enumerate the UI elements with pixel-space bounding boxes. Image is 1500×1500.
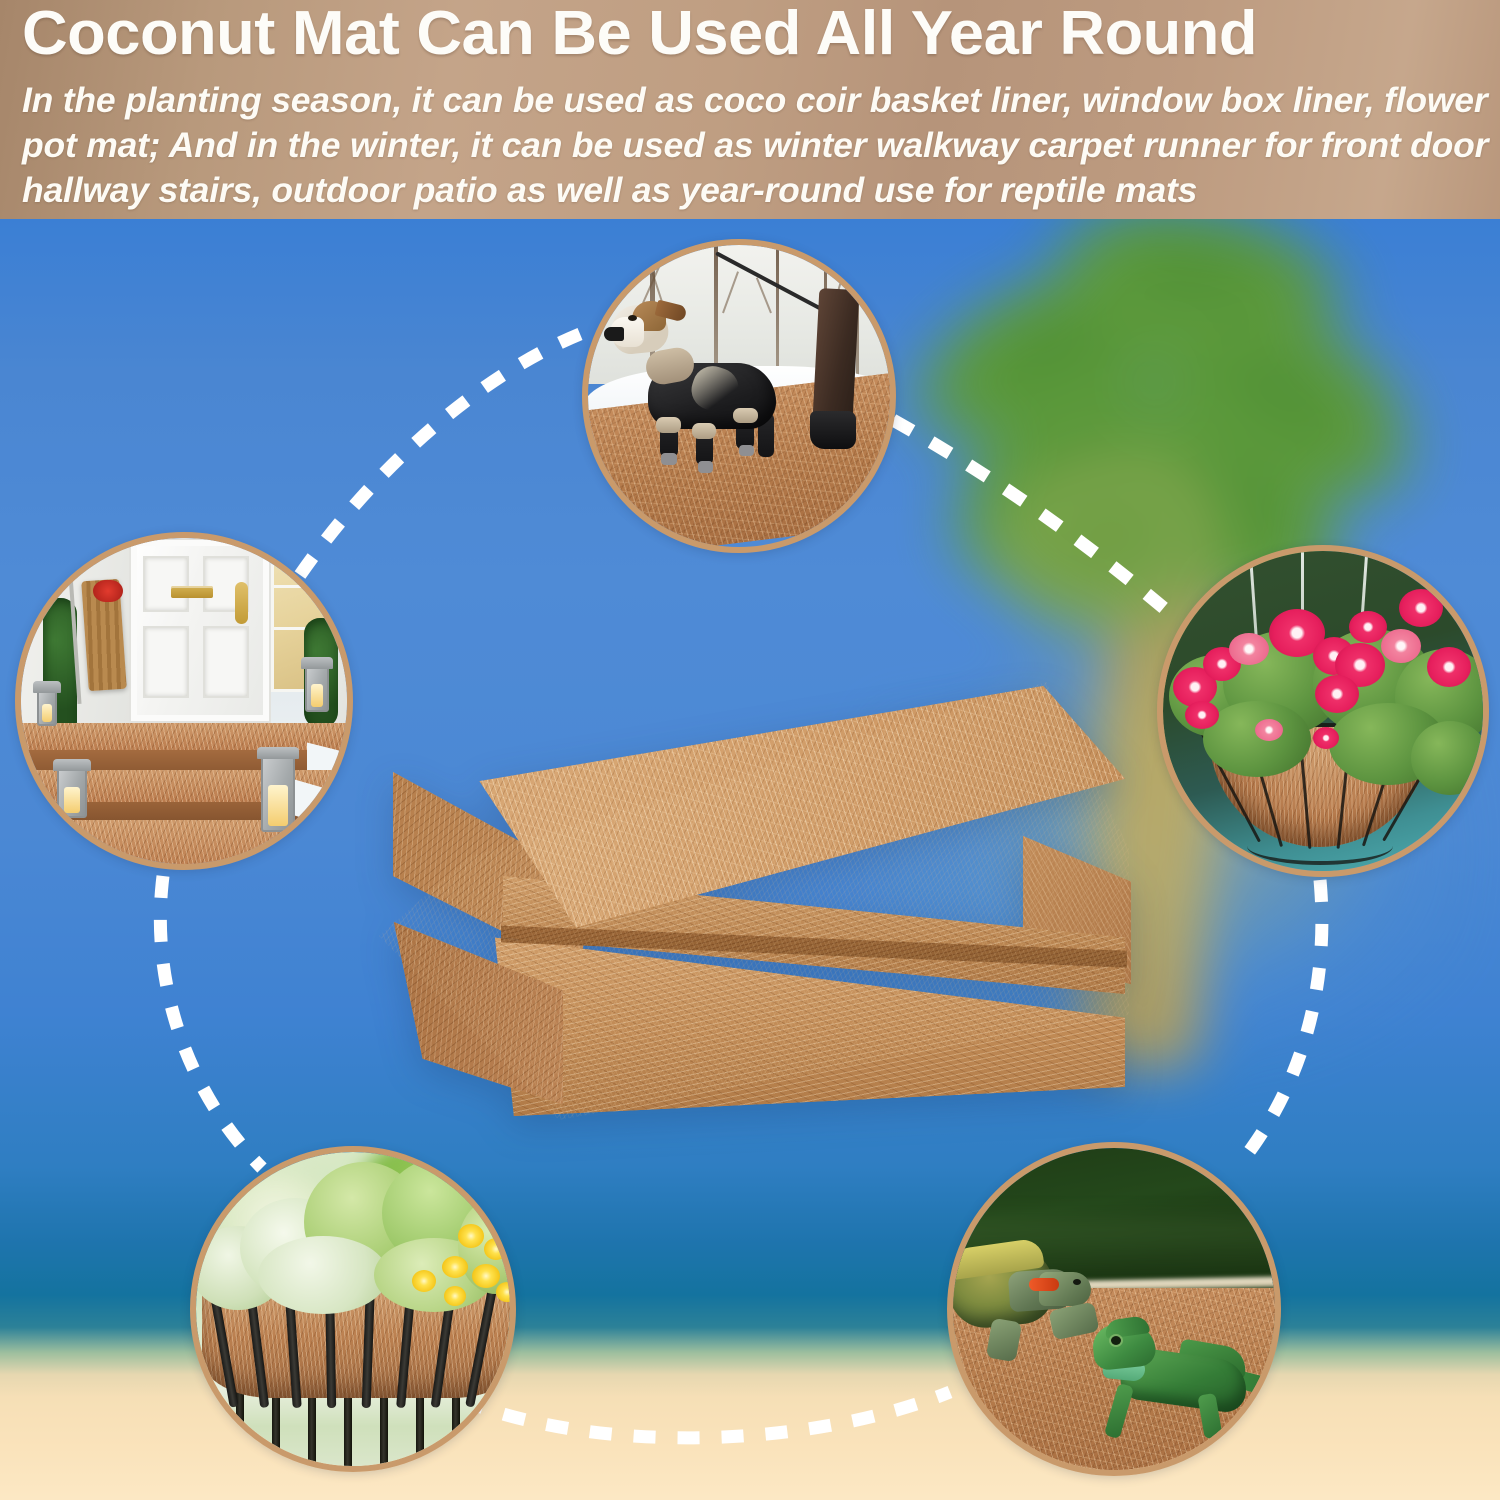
porch-lantern — [37, 690, 57, 726]
basket-foliage — [1203, 701, 1311, 777]
pink-petunia-flower — [1185, 701, 1219, 729]
dog-on-walkway-photo — [582, 239, 896, 553]
door-panel — [143, 556, 189, 612]
white-greenery — [258, 1236, 388, 1314]
coir-stair-tread — [21, 820, 347, 864]
porch-lantern — [305, 666, 329, 712]
turtle-red-ear-marking — [1029, 1278, 1059, 1291]
pink-petunia-flower — [1229, 633, 1269, 665]
dog-nose — [604, 327, 624, 341]
yellow-flower — [458, 1224, 484, 1248]
porch-lantern — [57, 768, 87, 818]
dog-paw — [739, 445, 754, 456]
yellow-flower — [412, 1270, 436, 1292]
page-title: Coconut Mat Can Be Used All Year Round — [22, 0, 1500, 72]
pink-petunia-flower — [1315, 675, 1359, 713]
basket-foliage — [1411, 721, 1483, 795]
door-panel — [203, 626, 249, 698]
yellow-flower — [472, 1264, 500, 1288]
coat-cuff — [733, 408, 758, 423]
brass-door-handle — [235, 582, 248, 624]
reptile-mat-photo — [947, 1142, 1281, 1476]
turtle-eye — [1073, 1279, 1081, 1285]
yellow-flower — [444, 1286, 466, 1306]
person-leg — [813, 288, 860, 420]
iron-railing-bar — [416, 1392, 424, 1466]
pink-petunia-flower — [1427, 647, 1471, 687]
yellow-flower — [484, 1238, 508, 1260]
pink-petunia-flower — [1255, 719, 1283, 741]
iron-railing-bar — [308, 1392, 316, 1466]
basket-wire-base — [1247, 827, 1393, 865]
pink-petunia-flower — [1313, 727, 1339, 749]
coat-cuff — [656, 417, 681, 433]
red-bow-decoration — [93, 580, 123, 602]
brass-mail-slot — [171, 586, 213, 598]
person-boot — [810, 411, 856, 449]
header-banner: Coconut Mat Can Be Used All Year Round I… — [0, 0, 1500, 219]
coat-cuff — [692, 423, 716, 439]
dog-paw — [661, 453, 677, 465]
pink-petunia-flower — [1349, 611, 1387, 643]
dog-paw — [698, 461, 713, 473]
pink-petunia-flower — [1399, 589, 1443, 627]
iron-railing-bar — [344, 1392, 352, 1466]
iron-railing-bar — [452, 1392, 460, 1466]
dog-eye — [628, 315, 637, 321]
header-subtitle: In the planting season, it can be used a… — [22, 78, 1490, 213]
product-infographic: Coconut Mat Can Be Used All Year Round I… — [0, 0, 1500, 1500]
iron-railing-bar — [380, 1392, 388, 1466]
front-door-stairs-photo — [15, 532, 353, 870]
window-box-photo — [190, 1146, 516, 1472]
pink-petunia-flower — [1381, 629, 1421, 663]
yellow-flower — [442, 1256, 468, 1278]
door-panel — [143, 626, 189, 698]
product-image-coconut-mats — [383, 686, 1125, 1116]
porch-lantern — [261, 756, 295, 832]
iron-railing-bar — [272, 1392, 280, 1466]
lizard-eye — [1111, 1336, 1121, 1345]
hanging-basket-photo — [1157, 545, 1489, 877]
